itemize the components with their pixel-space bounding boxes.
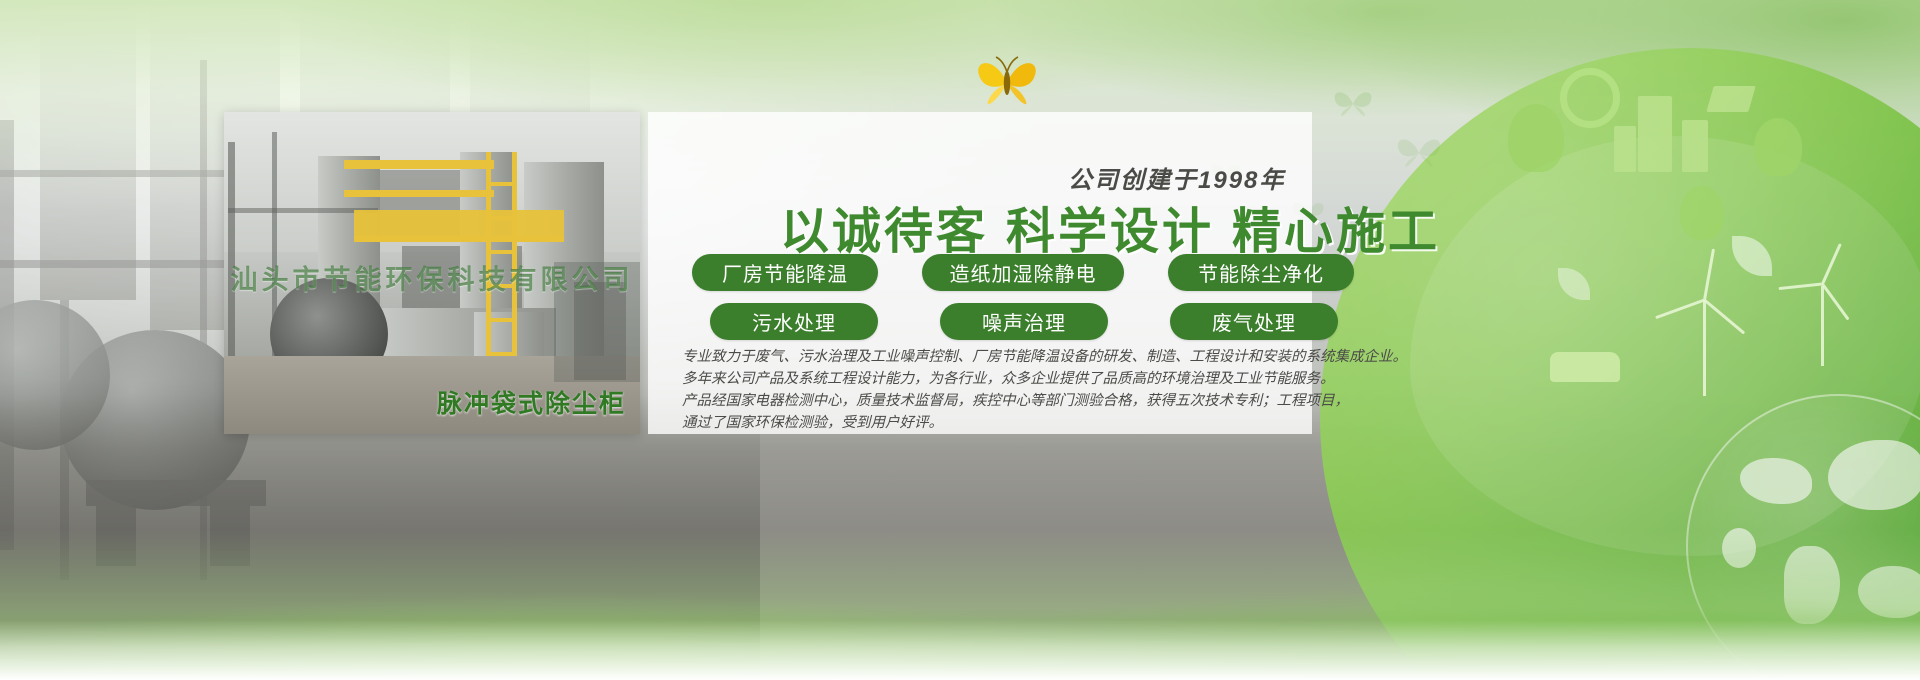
yellow-butterfly-icon [968, 45, 1046, 117]
service-pill-factory-cooling[interactable]: 厂房节能降温 [692, 254, 878, 291]
service-pill-paper-humidify[interactable]: 造纸加湿除静电 [922, 254, 1124, 291]
wind-turbine-icon [1703, 300, 1706, 396]
product-photo: 汕头市节能环保科技有限公司 脉冲袋式除尘柜 [224, 112, 640, 434]
photo-caption: 脉冲袋式除尘柜 [437, 384, 626, 420]
tree-icon [1508, 104, 1564, 172]
sun-icon [1560, 68, 1620, 128]
car-icon [1550, 352, 1620, 382]
description-line: 多年来公司产品及系统工程设计能力，为各行业，众多企业提供了品质高的环境治理及工业… [682, 368, 1312, 390]
photo-watermark: 汕头市节能环保科技有限公司 [231, 258, 634, 297]
service-pill-sewage-treatment[interactable]: 污水处理 [710, 303, 878, 340]
service-pill-group: 厂房节能降温 造纸加湿除静电 节能除尘净化 污水处理 噪声治理 废气处理 [692, 254, 1292, 352]
promo-banner: 汕头市节能环保科技有限公司 脉冲袋式除尘柜 公司创建于1998年 以诚待客科学设… [0, 0, 1920, 680]
headline-part-3: 精心施工 [1232, 205, 1440, 259]
founded-kicker: 公司创建于1998年 [1068, 160, 1285, 195]
headline-part-2: 科学设计 [1006, 205, 1214, 259]
watercolor-wash-bottom [0, 530, 1920, 680]
description-line: 通过了国家环保检测验，受到用户好评。 [682, 412, 1312, 434]
company-description: 专业致力于废气、污水治理及工业噪声控制、厂房节能降温设备的研发、制造、工程设计和… [682, 346, 1312, 434]
building-icon [1638, 96, 1672, 172]
tree-icon [1680, 186, 1724, 240]
butterfly-icon [1392, 130, 1446, 176]
butterfly-icon [1330, 84, 1376, 124]
description-line: 产品经国家电器检测中心，质量技术监督局，疾控中心等部门测验合格，获得五次技术专利… [682, 390, 1312, 412]
service-pill-noise-control[interactable]: 噪声治理 [940, 303, 1108, 340]
service-pill-waste-gas[interactable]: 废气处理 [1170, 303, 1338, 340]
tree-icon [1754, 118, 1802, 176]
headline-part-1: 以诚待客 [780, 205, 988, 259]
building-icon [1682, 120, 1708, 172]
page-title: 以诚待客科学设计精心施工 [780, 192, 1440, 263]
description-line: 专业致力于废气、污水治理及工业噪声控制、厂房节能降温设备的研发、制造、工程设计和… [682, 346, 1312, 368]
service-pill-dust-purification[interactable]: 节能除尘净化 [1168, 254, 1354, 291]
building-icon [1614, 126, 1636, 172]
solar-panel-icon [1706, 86, 1755, 112]
wind-turbine-icon [1821, 286, 1824, 366]
